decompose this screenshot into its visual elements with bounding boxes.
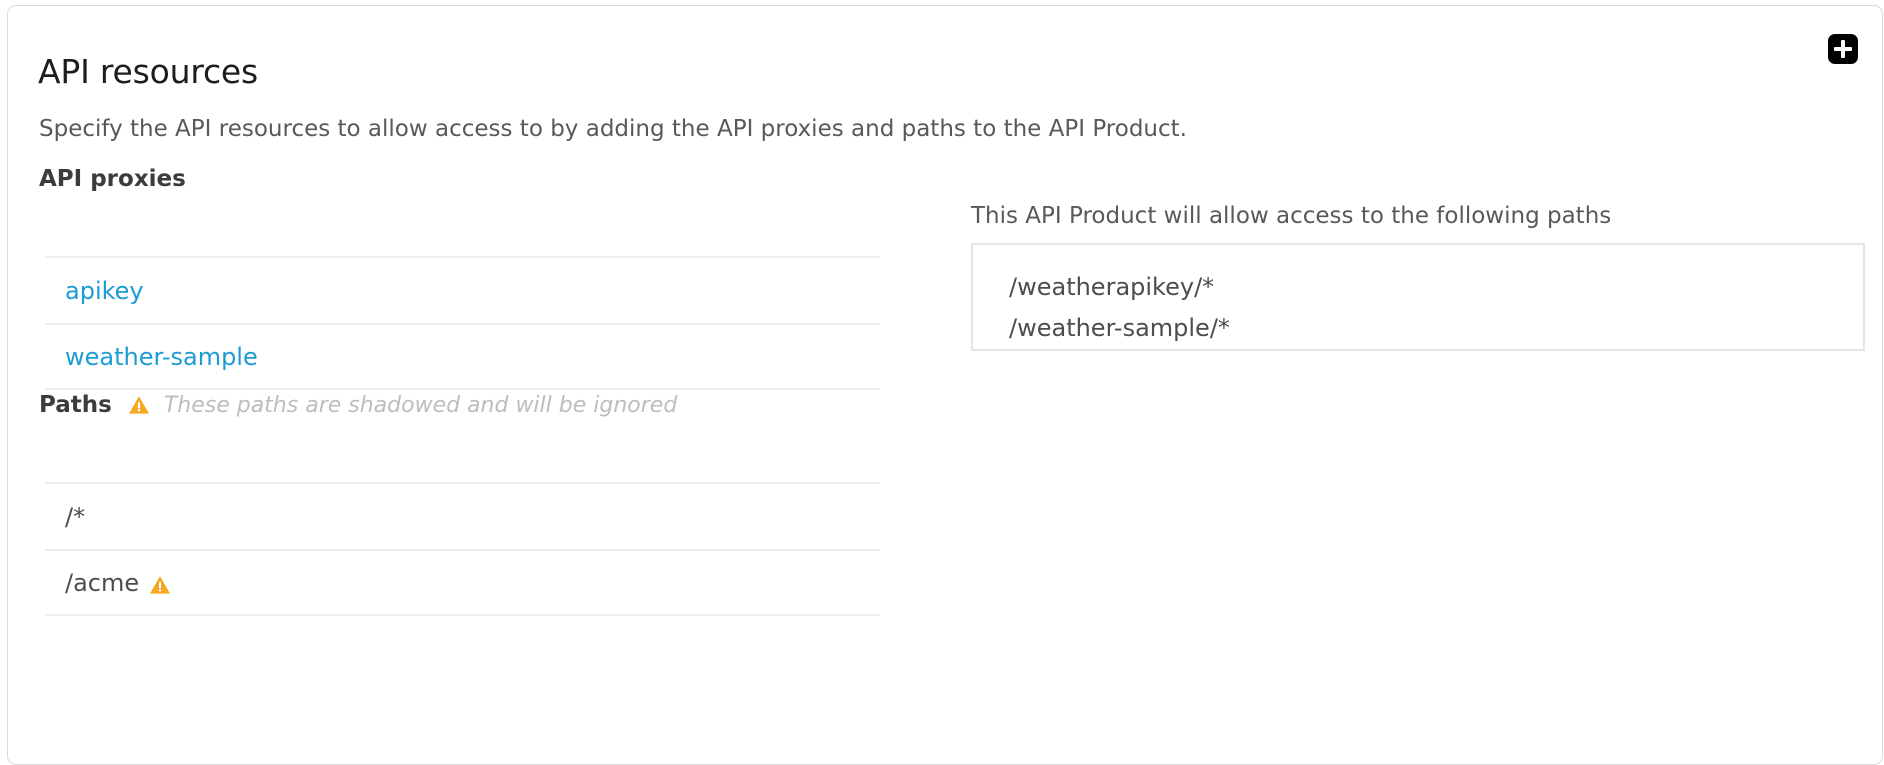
allowed-path-item: /weatherapikey/* (1009, 267, 1863, 308)
api-proxy-link-apikey[interactable]: apikey (65, 277, 144, 305)
api-proxy-link-weather-sample[interactable]: weather-sample (65, 343, 258, 371)
api-resources-card: API resources Specify the API resources … (7, 5, 1883, 765)
right-column: This API Product will allow access to th… (798, 6, 1884, 764)
paths-shadowed-note: These paths are shadowed and will be ign… (164, 393, 677, 418)
paths-list: /* /acme (45, 482, 880, 616)
path-value-acme: /acme (65, 569, 139, 597)
paths-heading: Paths These paths are shadowed and will … (39, 392, 677, 418)
paths-heading-label: Paths (39, 392, 112, 418)
list-item[interactable]: weather-sample (45, 323, 880, 390)
api-proxies-heading-label: API proxies (39, 166, 186, 192)
path-value-wildcard: /* (65, 503, 85, 531)
warning-icon (128, 395, 150, 415)
allowed-paths-box: /weatherapikey/* /weather-sample/* (971, 243, 1865, 351)
list-item[interactable]: apikey (45, 256, 880, 323)
api-proxies-heading: API proxies (39, 166, 186, 192)
api-proxies-list: apikey weather-sample (45, 256, 880, 390)
list-item[interactable]: /* (45, 482, 880, 549)
allowed-path-item: /weather-sample/* (1009, 308, 1863, 349)
left-column: API proxies apikey weather-sample Paths … (8, 6, 888, 764)
warning-icon (149, 575, 171, 595)
list-item[interactable]: /acme (45, 549, 880, 616)
allowed-paths-title: This API Product will allow access to th… (971, 203, 1611, 229)
